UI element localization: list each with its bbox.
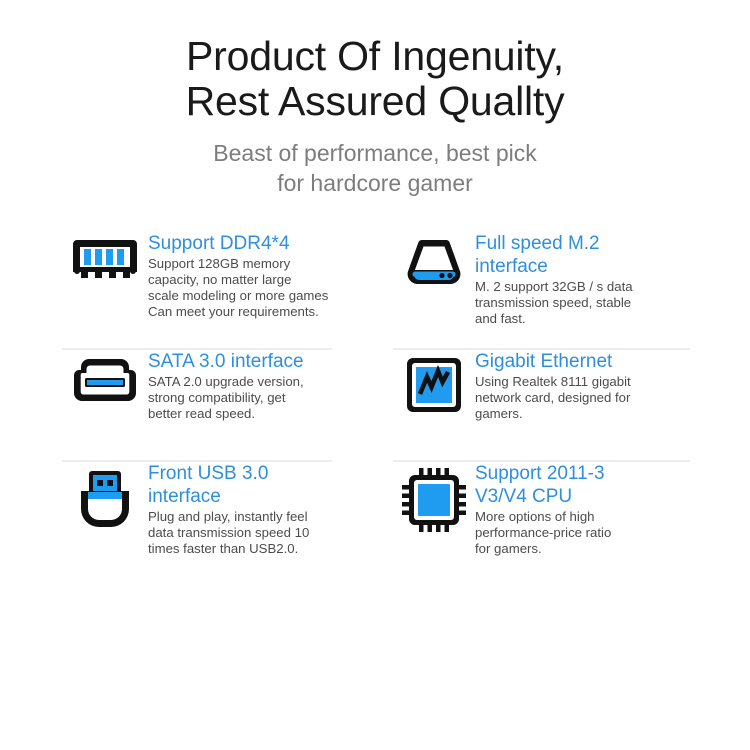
page-subtitle-line-1: Beast of performance, best pick bbox=[160, 138, 590, 168]
feature-title-cpu: Support 2011-3 V3/V4 CPU bbox=[475, 462, 685, 508]
usb-flash-drive-icon bbox=[62, 462, 148, 546]
feature-title-sata: SATA 3.0 interface bbox=[148, 350, 336, 373]
feature-title-m2: Full speed M.2 interface bbox=[475, 232, 685, 278]
feature-grid: Support DDR4*4 Support 128GB memory capa… bbox=[0, 232, 750, 580]
feature-text-usb: Front USB 3.0 interface Plug and play, i… bbox=[148, 462, 336, 557]
page-title-line-1: Product Of Ingenuity, bbox=[65, 34, 685, 79]
feature-text-ethernet: Gigabit Ethernet Using Realtek 8111 giga… bbox=[475, 350, 685, 422]
cpu-chip-icon bbox=[393, 462, 475, 546]
feature-text-ddr4: Support DDR4*4 Support 128GB memory capa… bbox=[148, 232, 336, 320]
network-signal-icon bbox=[393, 350, 475, 434]
sata-connector-icon bbox=[62, 350, 148, 434]
feature-title-ddr4: Support DDR4*4 bbox=[148, 232, 336, 255]
feature-text-m2: Full speed M.2 interface M. 2 support 32… bbox=[475, 232, 685, 327]
feature-item-ethernet: Gigabit Ethernet Using Realtek 8111 giga… bbox=[376, 350, 690, 462]
ram-module-icon bbox=[62, 232, 148, 314]
feature-desc-ethernet: Using Realtek 8111 gigabit network card,… bbox=[475, 374, 685, 422]
page-title-line-2: Rest Assured Quallty bbox=[65, 79, 685, 124]
feature-desc-sata: SATA 2.0 upgrade version, strong compati… bbox=[148, 374, 336, 422]
feature-item-m2: Full speed M.2 interface M. 2 support 32… bbox=[376, 232, 690, 350]
page-subtitle: Beast of performance, best pick for hard… bbox=[160, 138, 590, 198]
hard-drive-icon bbox=[393, 232, 475, 314]
feature-item-ddr4: Support DDR4*4 Support 128GB memory capa… bbox=[62, 232, 376, 350]
feature-text-sata: SATA 3.0 interface SATA 2.0 upgrade vers… bbox=[148, 350, 336, 422]
page-header: Product Of Ingenuity, Rest Assured Quall… bbox=[0, 0, 750, 198]
product-feature-page: Product Of Ingenuity, Rest Assured Quall… bbox=[0, 0, 750, 750]
feature-item-usb: Front USB 3.0 interface Plug and play, i… bbox=[62, 462, 376, 580]
page-subtitle-line-2: for hardcore gamer bbox=[160, 168, 590, 198]
feature-desc-usb: Plug and play, instantly feel data trans… bbox=[148, 509, 336, 557]
feature-desc-cpu: More options of high performance-price r… bbox=[475, 509, 685, 557]
feature-title-usb: Front USB 3.0 interface bbox=[148, 462, 336, 508]
feature-text-cpu: Support 2011-3 V3/V4 CPU More options of… bbox=[475, 462, 685, 557]
feature-item-cpu: Support 2011-3 V3/V4 CPU More options of… bbox=[376, 462, 690, 580]
feature-title-ethernet: Gigabit Ethernet bbox=[475, 350, 685, 373]
feature-desc-m2: M. 2 support 32GB / s data transmission … bbox=[475, 279, 685, 327]
page-title: Product Of Ingenuity, Rest Assured Quall… bbox=[65, 34, 685, 124]
feature-item-sata: SATA 3.0 interface SATA 2.0 upgrade vers… bbox=[62, 350, 376, 462]
feature-desc-ddr4: Support 128GB memory capacity, no matter… bbox=[148, 256, 336, 320]
